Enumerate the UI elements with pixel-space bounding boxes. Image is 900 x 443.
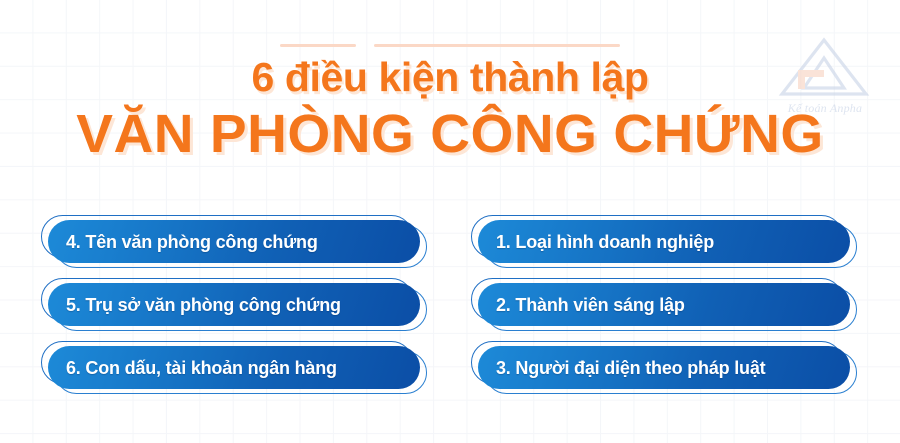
list-item-label: 3. Người đại diện theo pháp luật: [496, 359, 765, 377]
list-item[interactable]: 6. Con dấu, tài khoản ngân hàng: [48, 346, 420, 389]
pill-face[interactable]: 3. Người đại diện theo pháp luật: [478, 346, 850, 389]
pill-face[interactable]: 4. Tên văn phòng công chứng: [48, 220, 420, 263]
list-item[interactable]: 3. Người đại diện theo pháp luật: [478, 346, 850, 389]
list-item-label: 1. Loại hình doanh nghiệp: [496, 233, 714, 251]
page-title: 6 điều kiện thành lập VĂN PHÒNG CÔNG CHỨ…: [0, 52, 900, 166]
title-line-1: 6 điều kiện thành lập: [0, 52, 900, 102]
list-item[interactable]: 1. Loại hình doanh nghiệp: [478, 220, 850, 263]
list-item-label: 4. Tên văn phòng công chứng: [66, 233, 318, 251]
list-item-label: 6. Con dấu, tài khoản ngân hàng: [66, 359, 337, 377]
infographic-canvas: 6 điều kiện thành lập VĂN PHÒNG CÔNG CHỨ…: [0, 0, 900, 443]
dash-short-icon: [280, 44, 356, 47]
title-decorative-dashes: [0, 44, 900, 47]
title-line-2: VĂN PHÒNG CÔNG CHỨNG: [0, 102, 900, 166]
dash-long-icon: [374, 44, 620, 47]
list-item-label: 2. Thành viên sáng lập: [496, 296, 685, 314]
conditions-list: 4. Tên văn phòng công chứng 1. Loại hình…: [48, 220, 852, 389]
pill-face[interactable]: 1. Loại hình doanh nghiệp: [478, 220, 850, 263]
pill-face[interactable]: 2. Thành viên sáng lập: [478, 283, 850, 326]
list-item-label: 5. Trụ sở văn phòng công chứng: [66, 296, 341, 314]
list-item[interactable]: 2. Thành viên sáng lập: [478, 283, 850, 326]
list-item[interactable]: 4. Tên văn phòng công chứng: [48, 220, 420, 263]
pill-face[interactable]: 6. Con dấu, tài khoản ngân hàng: [48, 346, 420, 389]
list-item[interactable]: 5. Trụ sở văn phòng công chứng: [48, 283, 420, 326]
pill-face[interactable]: 5. Trụ sở văn phòng công chứng: [48, 283, 420, 326]
